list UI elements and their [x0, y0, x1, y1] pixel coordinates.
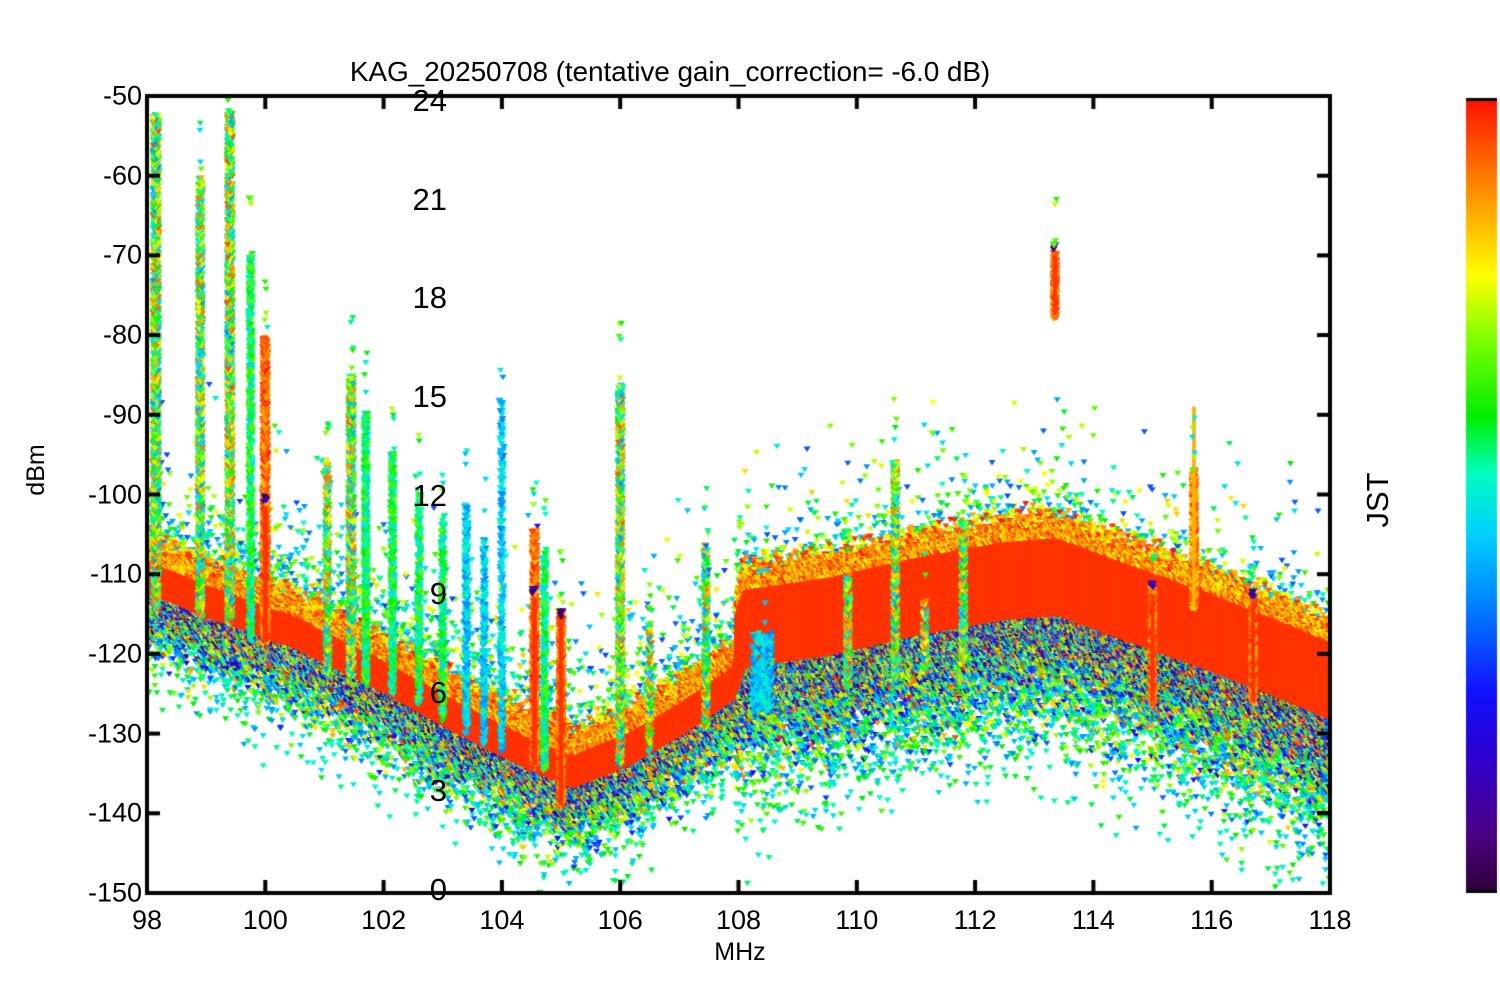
y-tick-label: -100	[88, 479, 142, 510]
y-tick-label: -50	[103, 81, 142, 112]
x-tick-label: 118	[1308, 905, 1351, 936]
colorbar-tick-label: 9	[430, 576, 447, 612]
x-tick-label: 106	[598, 905, 643, 936]
x-tick-label: 100	[243, 905, 288, 936]
x-tick-label: 108	[716, 905, 761, 936]
y-tick-label: -70	[103, 240, 142, 271]
y-tick-label: -110	[90, 559, 142, 590]
y-tick-label: -120	[88, 638, 142, 669]
x-tick-label: 110	[835, 905, 878, 936]
colorbar-tick-label: 21	[413, 182, 447, 218]
x-axis-label: MHz	[0, 938, 1480, 967]
spectrogram-scatter-canvas	[0, 0, 1500, 1000]
colorbar-tick-label: 6	[430, 675, 447, 711]
x-tick-label: 116	[1190, 905, 1233, 936]
colorbar-tick-label: 12	[413, 478, 447, 514]
y-tick-label: -130	[88, 718, 142, 749]
colorbar-tick-label: 24	[413, 83, 447, 119]
spectrum-figure: KAG_20250708 (tentative gain_correction=…	[0, 0, 1500, 1000]
colorbar-tick-label: 15	[413, 379, 447, 415]
y-tick-label: -60	[103, 160, 142, 191]
colorbar-label: JST	[1360, 472, 1396, 527]
y-axis-label: dBm	[22, 444, 51, 495]
colorbar-tick-label: 18	[413, 280, 447, 316]
page-title: KAG_20250708 (tentative gain_correction=…	[0, 56, 1340, 88]
x-tick-label: 114	[1072, 905, 1115, 936]
x-tick-label: 104	[479, 905, 524, 936]
colorbar-tick-label: 0	[430, 872, 447, 908]
y-tick-label: -80	[103, 320, 142, 351]
y-tick-label: -90	[103, 399, 142, 430]
y-tick-label: -140	[88, 798, 142, 829]
y-tick-label: -150	[88, 878, 142, 909]
x-tick-label: 102	[361, 905, 406, 936]
x-tick-label: 98	[132, 905, 162, 936]
x-tick-label: 112	[954, 905, 997, 936]
colorbar-tick-label: 3	[430, 773, 447, 809]
